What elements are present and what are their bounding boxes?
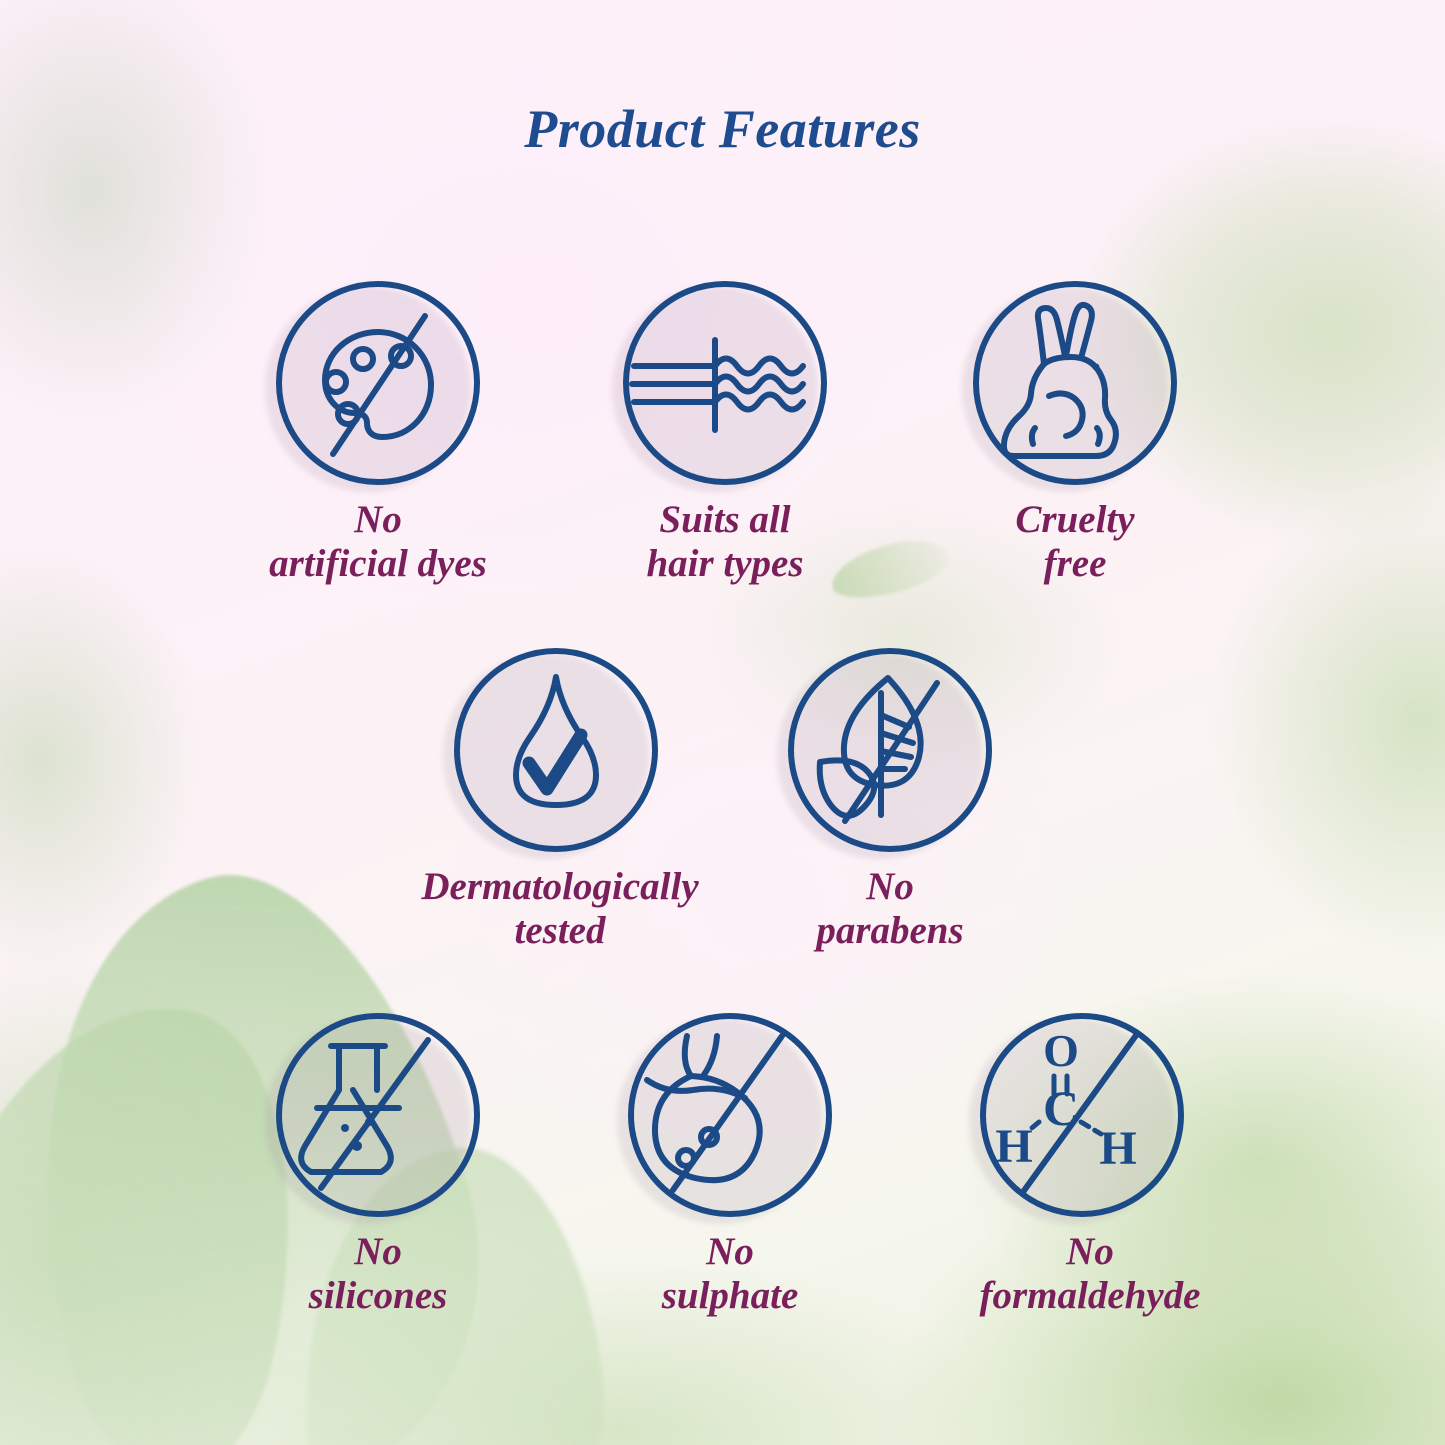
feature-label: No formaldehyde xyxy=(925,1230,1255,1319)
feature-label: No silicones xyxy=(228,1230,528,1319)
feature-label: Cruelty free xyxy=(925,498,1225,587)
feature-label: Suits all hair types xyxy=(575,498,875,587)
badge-dermatologically-tested xyxy=(451,645,661,855)
feature-no-artificial-dyes: No artificial dyes xyxy=(228,278,528,587)
rabbit-icon xyxy=(970,278,1180,488)
badge-no-sulphate xyxy=(625,1010,835,1220)
atom-label-hydrogen-left: H xyxy=(995,1120,1032,1173)
badge-no-silicones xyxy=(273,1010,483,1220)
badge-cruelty-free xyxy=(970,278,1180,488)
feature-suits-all-hair-types: Suits all hair types xyxy=(575,278,875,587)
feature-dermatologically-tested: Dermatologically tested xyxy=(395,645,725,954)
badge-no-artificial-dyes xyxy=(273,278,483,488)
atom-label-hydrogen-right: H xyxy=(1099,1122,1136,1175)
no-formaldehyde-icon: O C H H xyxy=(977,1010,1187,1220)
feature-no-sulphate: No sulphate xyxy=(580,1010,880,1319)
page-title: Product Features xyxy=(0,98,1445,160)
hair-types-icon xyxy=(620,278,830,488)
feature-label: Dermatologically tested xyxy=(395,865,725,954)
feature-label: No sulphate xyxy=(580,1230,880,1319)
feature-cruelty-free: Cruelty free xyxy=(925,278,1225,587)
badge-no-parabens xyxy=(785,645,995,855)
feature-no-silicones: No silicones xyxy=(228,1010,528,1319)
droplet-check-icon xyxy=(451,645,661,855)
feature-label: No artificial dyes xyxy=(228,498,528,587)
product-features-infographic: Product Features No artif xyxy=(0,0,1445,1445)
badge-no-formaldehyde: O C H H xyxy=(977,1010,1187,1220)
no-silicones-icon xyxy=(273,1010,483,1220)
atom-label-carbon: C xyxy=(1043,1080,1079,1136)
no-sulphate-icon xyxy=(625,1010,835,1220)
features-grid: No artificial dyes xyxy=(0,0,1445,1445)
badge-suits-all-hair-types xyxy=(620,278,830,488)
atom-label-oxygen: O xyxy=(1043,1025,1079,1076)
feature-label: No parabens xyxy=(740,865,1040,954)
no-artificial-dyes-icon xyxy=(273,278,483,488)
feature-no-parabens: No parabens xyxy=(740,645,1040,954)
no-parabens-icon xyxy=(785,645,995,855)
feature-no-formaldehyde: O C H H No formaldehyde xyxy=(925,1010,1255,1319)
